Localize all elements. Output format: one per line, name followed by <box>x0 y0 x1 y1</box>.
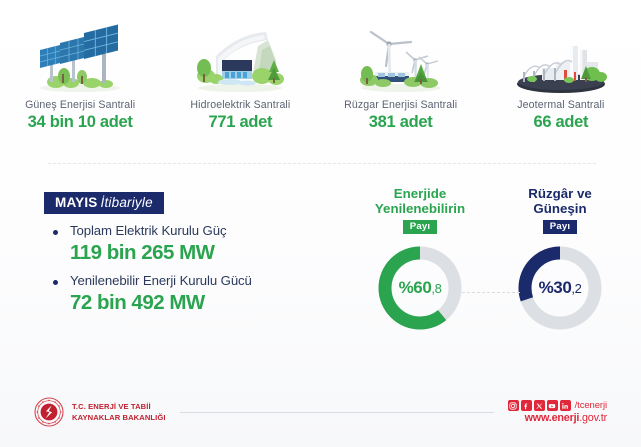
list-item-value: 119 bin 265 MW <box>70 241 344 265</box>
footer-divider <box>180 412 494 413</box>
geothermal-plant-icon <box>481 16 641 94</box>
donut-graphic: %30,2 <box>514 242 606 334</box>
youtube-icon[interactable] <box>547 400 558 411</box>
stat-value: 66 adet <box>533 113 588 132</box>
ministry-name-line2: KAYNAKLAR BAKANLIĞI <box>72 412 166 423</box>
summary-list: Toplam Elektrik Kurulu Güç 119 bin 265 M… <box>44 223 344 314</box>
donut-chart-renewable-share: Enerjide Yenilenebilirin Payı %60,8 <box>350 186 490 334</box>
stat-card-solar: Güneş Enerjisi Santrali 34 bin 10 adet <box>0 6 160 132</box>
donut-connector-line <box>462 292 520 293</box>
donut-title: Enerjide Yenilenebilirin <box>375 186 465 217</box>
list-item-label: Yenilenebilir Enerji Kurulu Gücü <box>70 273 344 290</box>
month-badge: MAYISİtibariyle <box>44 192 164 214</box>
stat-value: 771 adet <box>209 113 273 132</box>
bullet-dot-icon <box>53 280 58 285</box>
donut-title-line1: Rüzgâr ve <box>528 186 592 201</box>
donut-charts: Enerjide Yenilenebilirin Payı %60,8 Rüzg… <box>350 186 630 334</box>
list-item-value: 72 bin 492 MW <box>70 291 344 315</box>
summary-panel: MAYISİtibariyle Toplam Elektrik Kurulu G… <box>44 192 344 323</box>
stat-label: Güneş Enerjisi Santrali <box>25 99 135 111</box>
hydroelectric-dam-icon <box>160 16 320 94</box>
donut-title: Rüzgâr ve Güneşin <box>528 186 592 217</box>
facebook-icon[interactable] <box>521 400 532 411</box>
x-twitter-icon[interactable] <box>534 400 545 411</box>
bullet-dot-icon <box>53 230 58 235</box>
list-item: Yenilenebilir Enerji Kurulu Gücü 72 bin … <box>44 273 344 314</box>
pay-badge: Payı <box>403 220 438 234</box>
list-item: Toplam Elektrik Kurulu Güç 119 bin 265 M… <box>44 223 344 264</box>
pay-badge: Payı <box>543 220 578 234</box>
donut-graphic: %60,8 <box>374 242 466 334</box>
stat-value: 381 adet <box>369 113 433 132</box>
donut-chart-wind-solar-share: Rüzgâr ve Güneşin Payı %30,2 <box>490 186 630 334</box>
website-url[interactable]: www.enerji.gov.tr <box>525 412 607 424</box>
list-item-label: Toplam Elektrik Kurulu Güç <box>70 223 344 240</box>
stat-label: Hidroelektrik Santrali <box>190 99 290 111</box>
ministry-name-line1: T.C. ENERJİ VE TABİİ <box>72 401 166 412</box>
stat-card-wind: Rüzgar Enerjisi Santrali 381 adet <box>321 6 481 132</box>
website-url-rest: .gov.tr <box>579 412 607 424</box>
donut-title-line2: Yenilenebilirin <box>375 201 465 216</box>
month-badge-suffix: İtibariyle <box>101 195 153 210</box>
instagram-icon[interactable] <box>508 400 519 411</box>
ministry-seal-icon <box>34 397 64 427</box>
infographic-page: Güneş Enerjisi Santrali 34 bin 10 adet <box>0 0 641 447</box>
website-url-bold: www.enerji <box>525 412 580 424</box>
donut-title-line1: Enerjide <box>394 186 446 201</box>
month-badge-month: MAYIS <box>55 195 98 210</box>
stat-card-geothermal: Jeotermal Santrali 66 adet <box>481 6 641 132</box>
linkedin-icon[interactable] <box>560 400 571 411</box>
wind-turbine-plant-icon <box>321 16 481 94</box>
stat-card-hydro: Hidroelektrik Santrali 771 adet <box>160 6 320 132</box>
top-stats-row: Güneş Enerjisi Santrali 34 bin 10 adet <box>0 6 641 132</box>
stat-label: Jeotermal Santrali <box>517 99 604 111</box>
social-icons-row: /tcenerji <box>508 400 607 411</box>
donut-title-line2: Güneşin <box>533 201 586 216</box>
stat-value: 34 bin 10 adet <box>28 113 133 132</box>
social-handle[interactable]: /tcenerji <box>575 400 607 411</box>
footer: T.C. ENERJİ VE TABİİ KAYNAKLAR BAKANLIĞI <box>0 387 641 437</box>
solar-panel-plant-icon <box>0 16 160 94</box>
ministry-brand: T.C. ENERJİ VE TABİİ KAYNAKLAR BAKANLIĞI <box>34 397 166 427</box>
section-divider <box>48 163 596 164</box>
ministry-name: T.C. ENERJİ VE TABİİ KAYNAKLAR BAKANLIĞI <box>72 401 166 423</box>
social-block: /tcenerji www.enerji.gov.tr <box>508 400 607 424</box>
stat-label: Rüzgar Enerjisi Santrali <box>344 99 457 111</box>
